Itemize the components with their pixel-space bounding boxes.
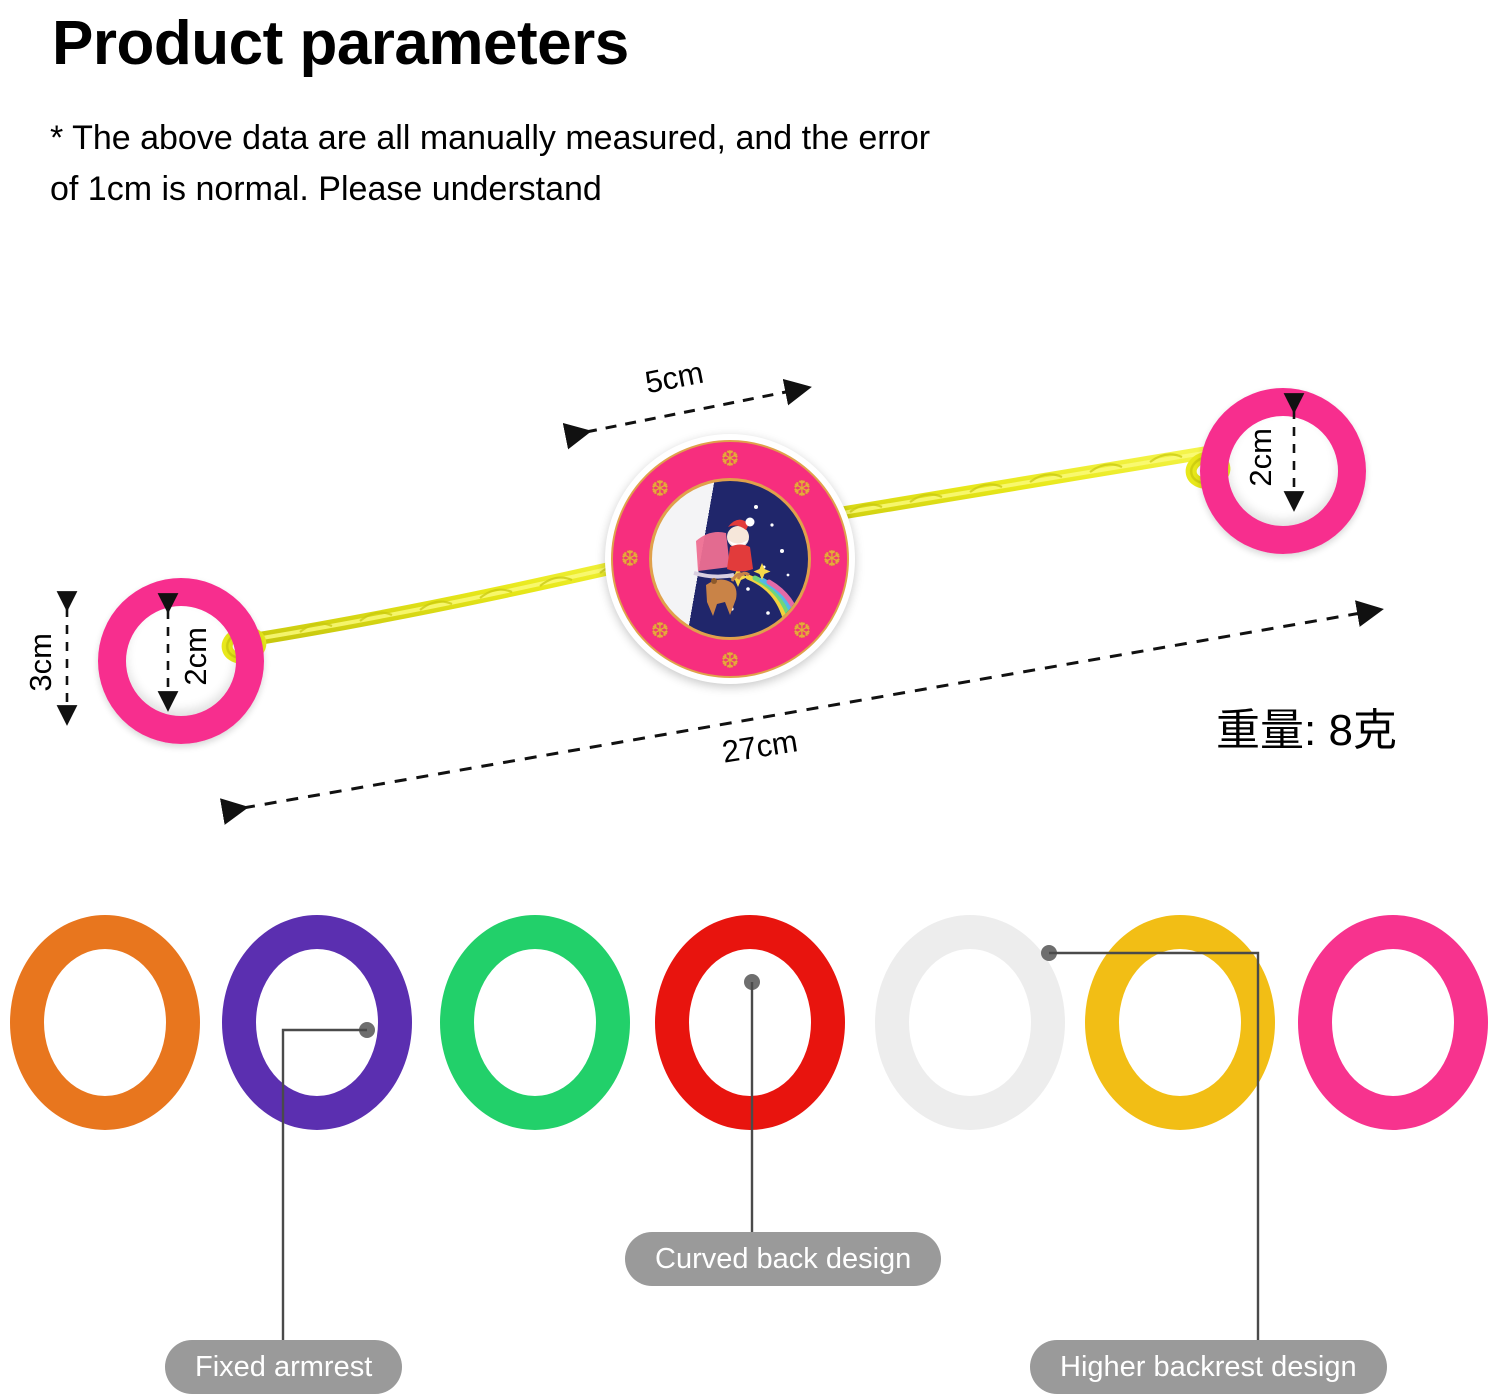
snowflake-icon: ❆ (649, 478, 671, 500)
purple-ring (222, 915, 412, 1130)
santa-scene-icon (652, 481, 808, 637)
product-parameters-infographic: Product parameters * The above data are … (0, 0, 1500, 1399)
dimension-27cm: 27cm (720, 723, 801, 770)
snowflake-icon: ❆ (649, 620, 671, 642)
dimension-5cm: 5cm (642, 355, 706, 402)
disclaimer-text: * The above data are all manually measur… (50, 113, 930, 215)
callout-curved-back-design[interactable]: Curved back design (625, 1232, 941, 1286)
dimension-2cm-right: 2cm (1243, 428, 1279, 487)
snowflake-icon: ❆ (619, 548, 641, 570)
dimension-3cm: 3cm (23, 633, 59, 692)
disc-scene (649, 478, 811, 640)
callout-fixed-armrest[interactable]: Fixed armrest (165, 1340, 402, 1394)
snowflake-icon: ❆ (719, 650, 741, 672)
green-ring (440, 915, 630, 1130)
yellow-ring (1085, 915, 1275, 1130)
dimension-2cm-left: 2cm (178, 627, 214, 686)
white-ring (875, 915, 1065, 1130)
snowflake-icon: ❆ (791, 478, 813, 500)
red-ring (655, 915, 845, 1130)
orange-ring (10, 915, 200, 1130)
pink-ring (1298, 915, 1488, 1130)
callout-higher-backrest-design[interactable]: Higher backrest design (1030, 1340, 1387, 1394)
page-title: Product parameters (52, 8, 629, 79)
weight-label: 重量: 8克 (1216, 694, 1397, 758)
snowflake-icon: ❆ (821, 548, 843, 570)
right-pink-ring (1200, 388, 1366, 554)
snowflake-icon: ❆ (719, 448, 741, 470)
christmas-disc: ❆ ❆ ❆ ❆ ❆ ❆ ❆ ❆ (605, 434, 855, 684)
snowflake-icon: ❆ (791, 620, 813, 642)
